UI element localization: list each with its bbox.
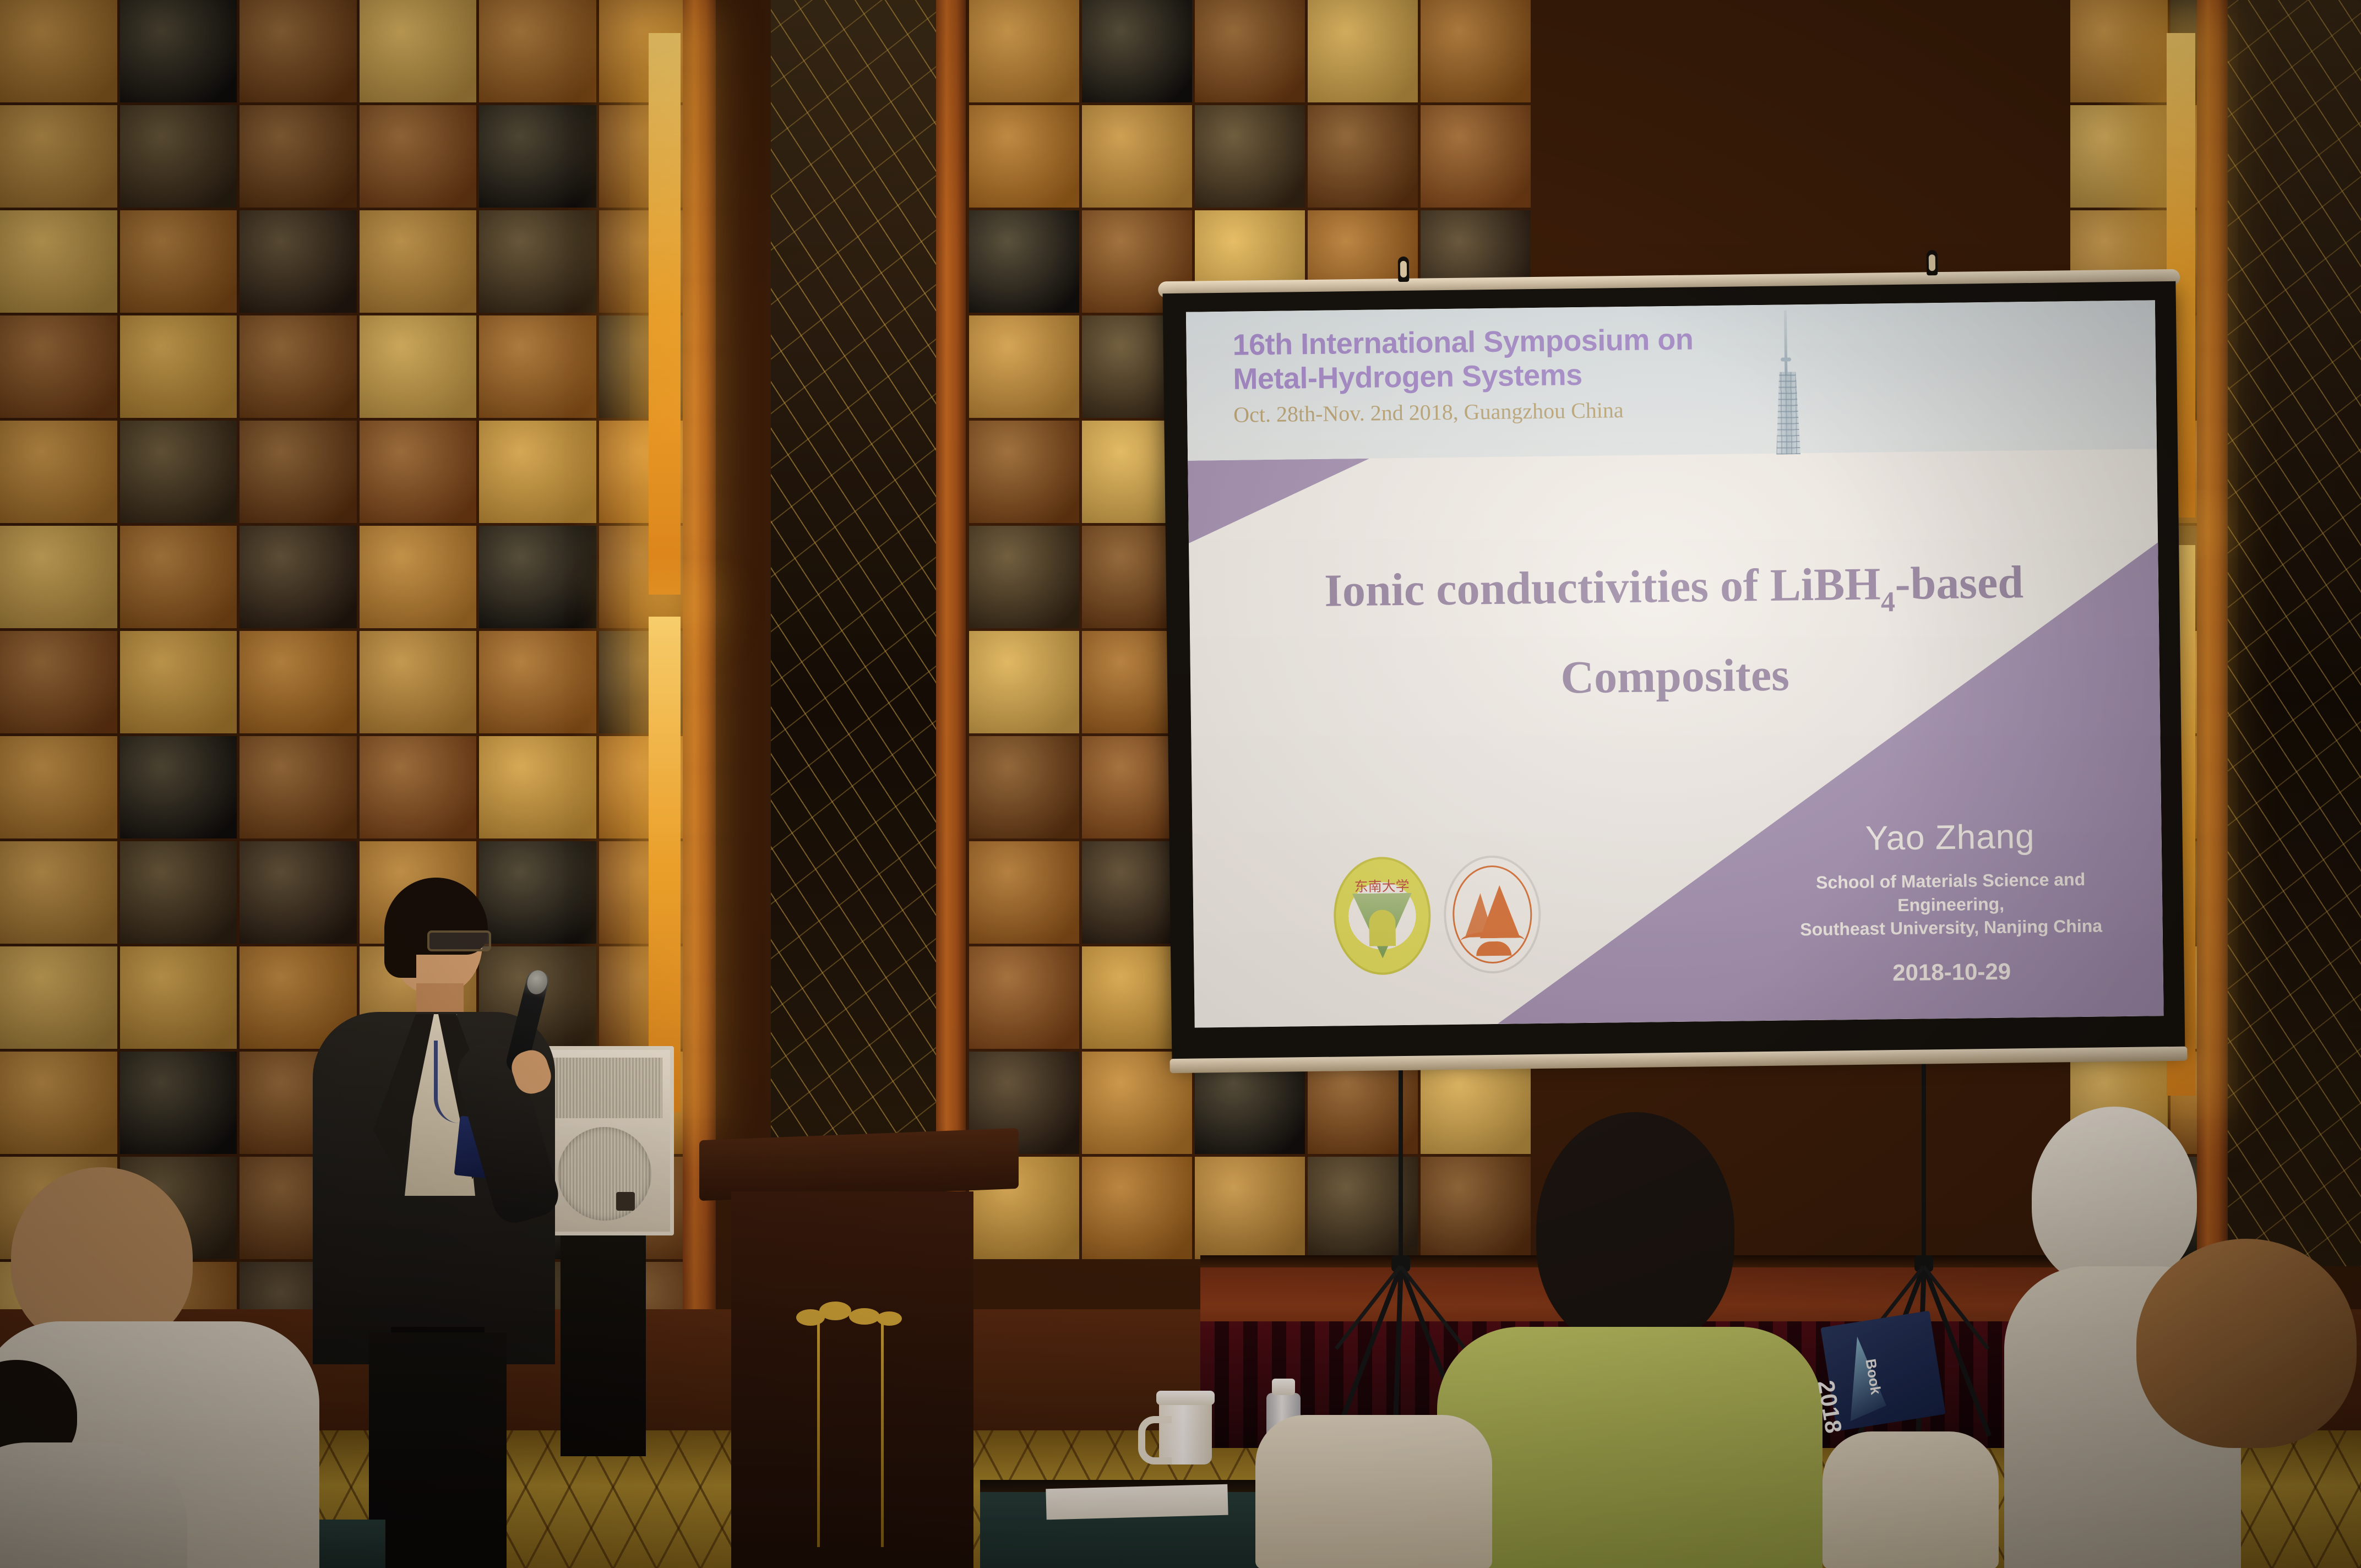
presentation-slide: 16th International Symposium on Metal-Hy…	[1186, 300, 2164, 1027]
wall-tile	[120, 210, 237, 313]
wall-tile	[479, 210, 596, 313]
wall-tile	[360, 315, 477, 418]
wall-tile	[1308, 0, 1418, 102]
wall-tile	[120, 105, 237, 208]
slide-title-part2: -based	[1895, 557, 2024, 609]
author-affiliation-line1: School of Materials Science and Engineer…	[1774, 867, 2127, 918]
presenter	[308, 875, 562, 1568]
wood-pilaster-left	[683, 0, 716, 1321]
materials-school-logo	[1443, 855, 1542, 974]
symposium-title-line1: 16th International Symposium on	[1232, 323, 1693, 362]
wall-tile	[240, 0, 357, 102]
wall-light-panel-b	[649, 617, 681, 1112]
symposium-date-location: Oct. 28th-Nov. 2nd 2018, Guangzhou China	[1233, 397, 1624, 428]
wall-tile	[479, 0, 596, 102]
conference-program-book: 2018 Book	[1820, 1311, 1945, 1431]
presenter-trousers	[369, 1332, 507, 1568]
wall-tile	[969, 421, 1079, 523]
wall-tile	[0, 736, 117, 839]
mug-lid	[1156, 1391, 1215, 1405]
projection-screen: 16th International Symposium on Metal-Hy…	[1167, 274, 2178, 1073]
slide-accent-triangle	[1188, 459, 1370, 543]
wall-tile	[360, 736, 477, 839]
mug-handle	[1138, 1416, 1172, 1464]
wall-tile	[1082, 1157, 1192, 1259]
wall-tile	[479, 631, 596, 733]
marble-pilaster-left	[771, 0, 936, 1266]
wall-tile	[120, 421, 237, 523]
wall-tile	[240, 315, 357, 418]
wall-tile	[360, 0, 477, 102]
lectern-body	[731, 1191, 973, 1568]
wall-tile	[120, 315, 237, 418]
wall-tile	[240, 210, 357, 313]
wall-tile	[479, 421, 596, 523]
wall-tile	[969, 631, 1079, 733]
presenter-hair-side	[384, 912, 416, 978]
wall-tile	[1195, 105, 1305, 208]
wall-tile	[0, 1052, 117, 1154]
wall-tile	[0, 631, 117, 733]
marble-pilaster-right	[2224, 0, 2361, 1266]
wall-tile	[0, 841, 117, 944]
wall-tile	[120, 841, 237, 944]
wall-tile	[360, 631, 477, 733]
bottle-cap	[1272, 1379, 1295, 1395]
wall-tile	[240, 526, 357, 628]
eyeglasses	[427, 930, 491, 951]
attendee-torso	[1437, 1327, 1823, 1568]
wall-tile	[360, 526, 477, 628]
wall-tile	[120, 526, 237, 628]
wall-tile	[240, 736, 357, 839]
slide-title-part1: Ionic conductivities of LiBH	[1324, 558, 1881, 616]
wall-tile	[969, 0, 1079, 102]
wall-tile	[479, 736, 596, 839]
wall-tile	[120, 736, 237, 839]
screen-hook-left	[1398, 257, 1410, 282]
slide-date: 2018-10-29	[1775, 957, 2128, 988]
screen-surface: 16th International Symposium on Metal-Hy…	[1186, 300, 2164, 1027]
wall-tile	[479, 315, 596, 418]
attendee-head	[1536, 1112, 1734, 1349]
loudspeaker-stand	[561, 1225, 646, 1456]
wall-tile	[1195, 1157, 1305, 1259]
slide-logo-group: 东南大学	[1333, 855, 1542, 976]
screen-hook-right	[1927, 250, 1938, 275]
wall-tile	[2070, 105, 2168, 208]
su-logo-chinese-text: 东南大学	[1335, 875, 1428, 896]
wall-tile	[0, 210, 117, 313]
wall-tile	[2070, 0, 2168, 102]
wall-tile	[120, 946, 237, 1049]
wall-tile	[0, 946, 117, 1049]
wall-tile	[120, 1052, 237, 1154]
wall-tile	[0, 315, 117, 418]
wood-pilaster-mid	[936, 0, 966, 1266]
chair-center-right	[1823, 1431, 1999, 1568]
wall-tile	[0, 0, 117, 102]
wall-tile	[969, 946, 1079, 1049]
slide-title: Ionic conductivities of LiBH4-based Comp…	[1189, 537, 2160, 726]
lectern-top	[699, 1128, 1019, 1201]
wall-tile	[1308, 105, 1418, 208]
southeast-university-logo: 东南大学	[1333, 856, 1432, 975]
wall-tile	[969, 841, 1079, 944]
wall-tile	[240, 105, 357, 208]
wall-light-panel-a	[649, 33, 681, 595]
wall-tile	[1082, 0, 1192, 102]
author-name: Yao Zhang	[1774, 816, 2126, 859]
wall-tile	[969, 736, 1079, 839]
wall-tile	[1195, 0, 1305, 102]
attendee-braided-hair-right	[2114, 1239, 2361, 1568]
wall-tile	[120, 0, 237, 102]
paper-on-table	[1046, 1484, 1228, 1520]
conference-photo-scene: 16th International Symposium on Metal-Hy…	[0, 0, 2361, 1568]
wall-tile	[1082, 105, 1192, 208]
wall-tile	[120, 631, 237, 733]
wall-tile	[479, 105, 596, 208]
wall-tile	[360, 421, 477, 523]
attendee-torso	[0, 1442, 187, 1568]
wall-tile	[969, 315, 1079, 418]
author-affiliation-line2: Southeast University, Nanjing China	[1775, 914, 2127, 941]
chair-center	[1255, 1415, 1492, 1568]
canton-tower-icon	[1767, 310, 1805, 455]
slide-title-line2: Composites	[1190, 627, 2160, 726]
attendee-braid	[2197, 1404, 2357, 1568]
wall-tile	[0, 105, 117, 208]
wall-tile	[360, 210, 477, 313]
slide-title-subscript: 4	[1881, 586, 1896, 618]
wall-tile	[969, 105, 1079, 208]
attendee-light-shirt-left	[0, 1360, 187, 1568]
wood-pilaster-right	[2197, 0, 2228, 1266]
wall-tile	[479, 526, 596, 628]
coffee-mug	[1159, 1398, 1212, 1464]
wall-tile	[240, 421, 357, 523]
lectern	[699, 1134, 1019, 1568]
slide-author-block: Yao Zhang School of Materials Science an…	[1774, 816, 2128, 987]
wall-tile	[969, 526, 1079, 628]
wall-tile	[0, 526, 117, 628]
wall-tile	[360, 105, 477, 208]
wall-tile	[969, 210, 1079, 313]
symposium-title-line2: Metal-Hydrogen Systems	[1233, 358, 1582, 396]
wall-tile	[240, 631, 357, 733]
wall-tile	[1421, 105, 1531, 208]
wall-tile	[1421, 0, 1531, 102]
wall-tile	[0, 421, 117, 523]
